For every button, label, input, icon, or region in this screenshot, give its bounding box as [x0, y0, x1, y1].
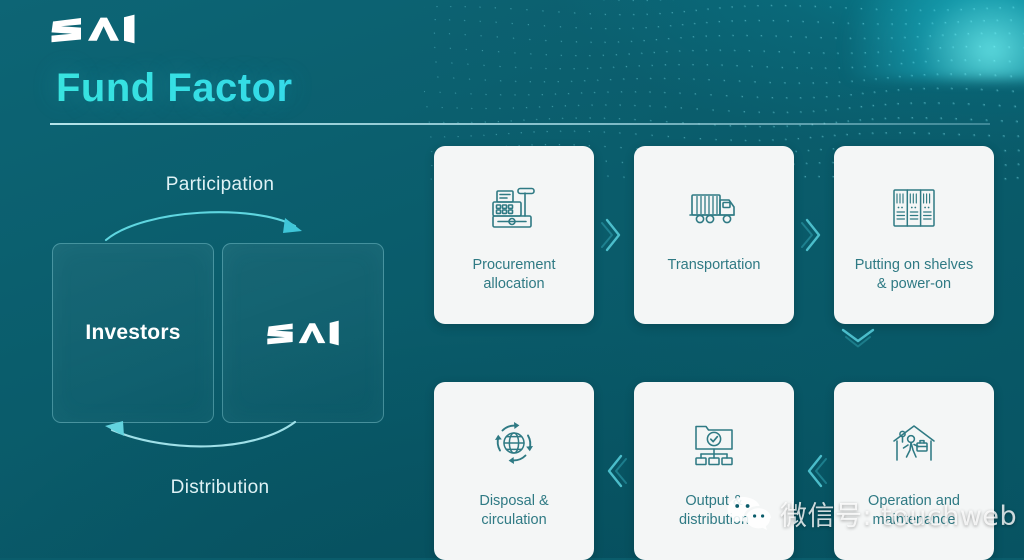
flow-card-label: Procurement allocation [462, 256, 565, 294]
connector-bottom-1 [594, 450, 634, 492]
flow-card-label: Operation and maintenance [858, 492, 970, 530]
connector-bottom-2 [794, 450, 834, 492]
entity-investors-label: Investors [85, 321, 180, 345]
flow-card-label: Disposal & circulation [469, 492, 558, 530]
flow-card-operation-maintenance[interactable]: Operation and maintenance [834, 382, 994, 560]
flow-card-procurement-allocation[interactable]: Procurement allocation [434, 146, 594, 324]
page-header: Fund Factor [50, 14, 990, 125]
chevron-down-icon [836, 325, 880, 352]
chevron-right-icon [601, 214, 627, 256]
distribution-label: Distribution [50, 477, 390, 499]
chevron-right-icon [801, 214, 827, 256]
process-flow: Procurement allocation [434, 146, 994, 560]
page-title: Fund Factor [56, 66, 990, 111]
flow-card-putting-on-shelves[interactable]: Putting on shelves & power-on [834, 146, 994, 324]
globe-recycle-icon [488, 416, 540, 472]
connector-turn-down [434, 324, 942, 353]
sai-logo-icon [50, 14, 136, 44]
chevron-left-icon [801, 450, 827, 492]
flow-card-label: Putting on shelves & power-on [845, 256, 984, 294]
investor-cycle-block: Participation Investors Distribution [50, 160, 390, 500]
flow-card-transportation[interactable]: Transportation [634, 146, 794, 324]
flow-row-bottom: Disposal & circulation [434, 382, 994, 560]
chevron-left-icon [601, 450, 627, 492]
brand-logo [50, 14, 990, 56]
server-rack-icon [889, 180, 939, 236]
connector-top-2 [794, 214, 834, 256]
flow-row-top: Procurement allocation [434, 146, 994, 324]
flow-card-disposal-circulation[interactable]: Disposal & circulation [434, 382, 594, 560]
participation-arrow-icon [50, 200, 390, 248]
entity-row: Investors [52, 243, 384, 423]
connector-top-1 [594, 214, 634, 256]
folder-check-network-icon [688, 416, 740, 472]
delivery-truck-icon [687, 180, 741, 236]
sai-logo-icon [266, 320, 340, 346]
flow-card-label: Transportation [658, 256, 771, 275]
entity-investors[interactable]: Investors [52, 243, 214, 423]
distribution-arrow-icon [50, 404, 390, 464]
flow-card-label: Output & distribution [669, 492, 759, 530]
house-worker-icon [887, 416, 941, 472]
flow-card-output-distribution[interactable]: Output & distribution [634, 382, 794, 560]
cash-register-icon [487, 180, 541, 236]
participation-label: Participation [50, 174, 390, 196]
header-divider [50, 123, 990, 125]
entity-sai[interactable] [222, 243, 384, 423]
